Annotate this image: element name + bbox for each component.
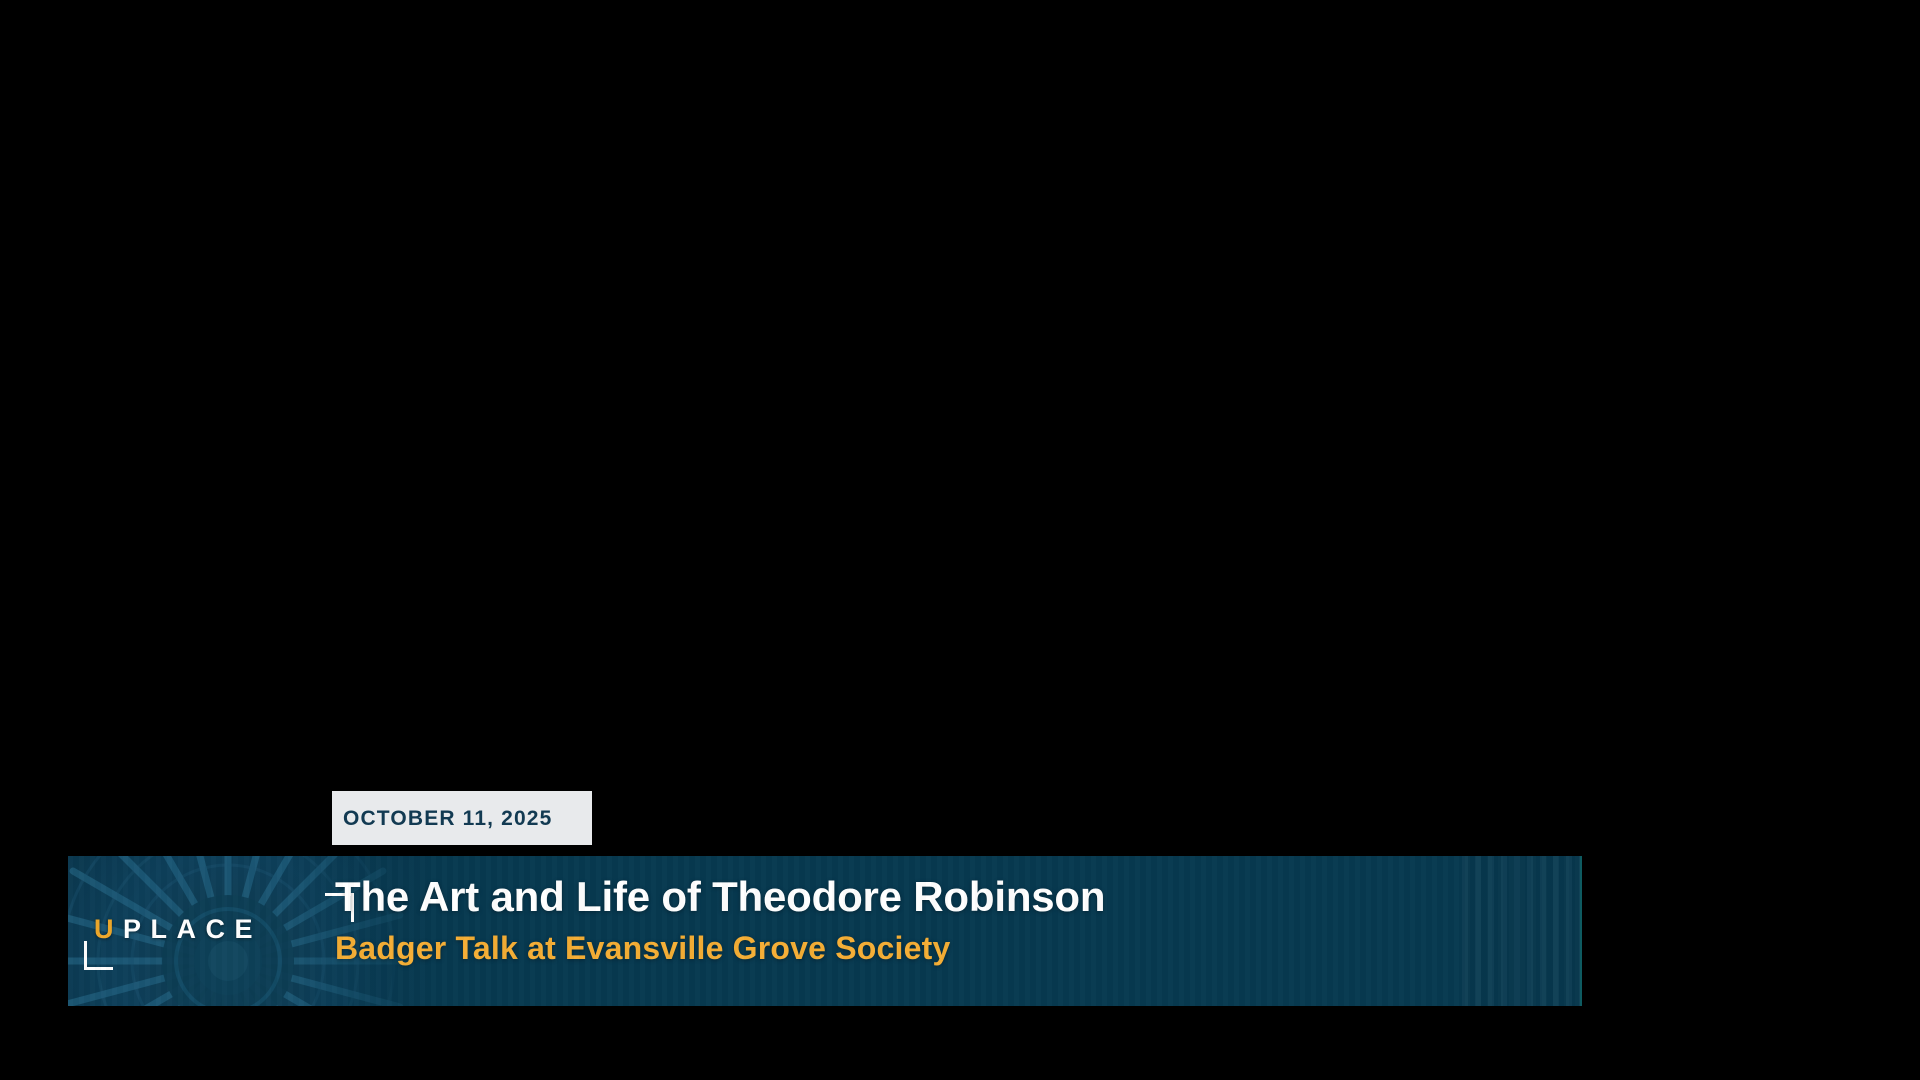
- page-background: OCTOBER 11, 2025: [0, 0, 1920, 1080]
- event-title: The Art and Life of Theodore Robinson: [335, 875, 1558, 920]
- bracket-corner-bottom-left-icon: [84, 941, 113, 970]
- uplace-wordmark-text: UPLACE: [94, 916, 262, 943]
- uplace-remaining-letters: PLACE: [123, 914, 262, 944]
- banner-text-block: The Art and Life of Theodore Robinson Ba…: [335, 875, 1558, 966]
- event-banner[interactable]: UPLACE The Art and Life of Theodore Robi…: [68, 856, 1582, 1006]
- event-date-text: OCTOBER 11, 2025: [343, 808, 552, 829]
- uplace-logo[interactable]: UPLACE: [88, 886, 348, 978]
- event-date-badge: OCTOBER 11, 2025: [332, 791, 592, 845]
- event-subtitle: Badger Talk at Evansville Grove Society: [335, 931, 1558, 966]
- uplace-accent-letter: U: [94, 914, 123, 944]
- banner-right-edge-accent: [1580, 856, 1582, 1006]
